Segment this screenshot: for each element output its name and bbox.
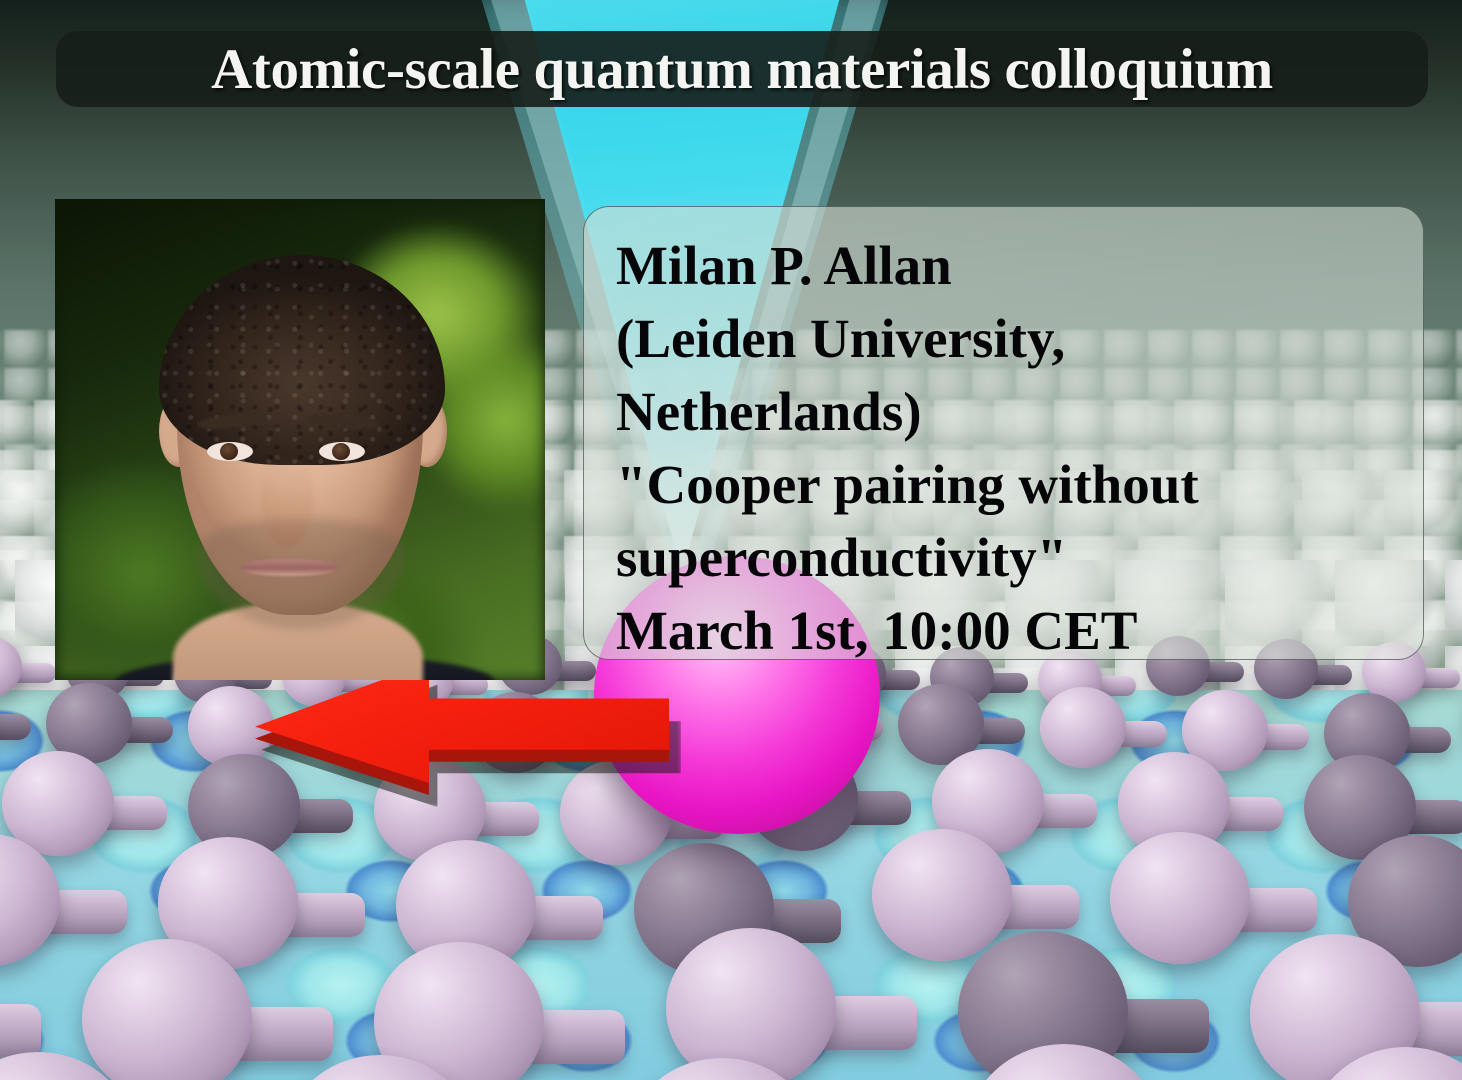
speaker-name: Milan P. Allan — [616, 229, 1395, 302]
page-title: Atomic-scale quantum materials colloquiu… — [211, 37, 1273, 102]
photo-eye-left — [207, 442, 253, 461]
lattice-atom — [872, 829, 1012, 961]
lattice-atom — [0, 637, 22, 697]
lattice-atom — [1040, 687, 1126, 768]
photo-iris-right — [332, 443, 350, 460]
talk-title-line-2: superconductivity" — [616, 521, 1395, 594]
colloquium-poster: Atomic-scale quantum materials colloquiu… — [0, 0, 1462, 1080]
photo-eye-right — [319, 442, 365, 461]
talk-datetime: March 1st, 10:00 CET — [616, 594, 1395, 667]
speaker-affiliation-line-1: (Leiden University, — [616, 302, 1395, 375]
talk-title-line-1: "Cooper pairing without — [616, 448, 1395, 521]
photo-nose — [261, 455, 313, 547]
speaker-affiliation-line-2: Netherlands) — [616, 375, 1395, 448]
speaker-photo — [55, 199, 545, 680]
lattice-bond — [0, 714, 31, 740]
photo-iris-left — [220, 443, 238, 460]
poster-title-bar: Atomic-scale quantum materials colloquiu… — [56, 31, 1428, 107]
lattice-atom — [1110, 832, 1250, 964]
lattice-bond — [0, 1004, 41, 1058]
photo-mouth — [241, 559, 337, 576]
speaker-info-card: Milan P. Allan (Leiden University, Nethe… — [583, 206, 1424, 660]
lattice-atom — [666, 928, 836, 1080]
